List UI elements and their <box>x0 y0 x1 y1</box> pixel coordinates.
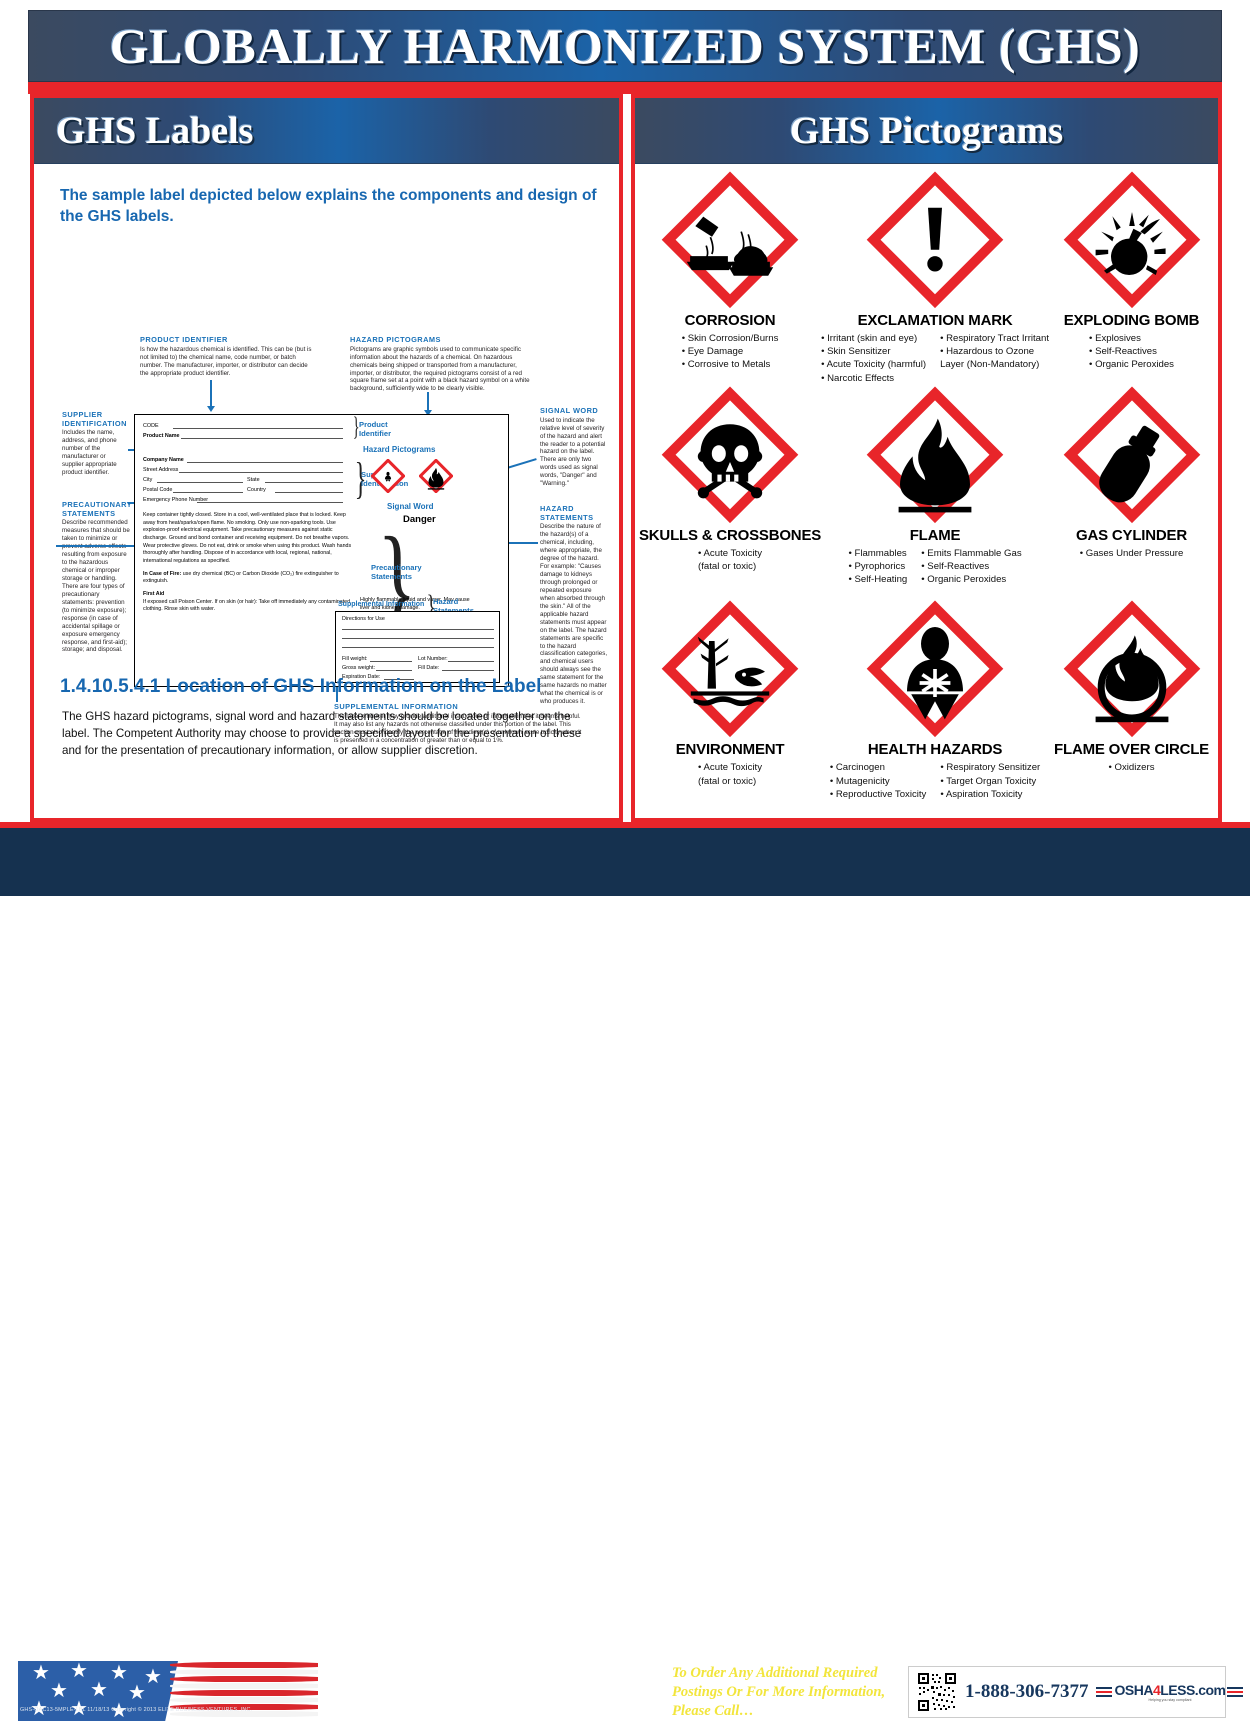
intro-text: The sample label depicted below explains… <box>60 186 600 228</box>
list-item: Oxidizers <box>1109 761 1155 774</box>
phone-number[interactable]: 1-888-306-7377 <box>965 1681 1088 1703</box>
ghs-labels-body: The sample label depicted below explains… <box>34 164 619 818</box>
health-hazard-icon <box>865 599 1005 739</box>
field-rule <box>197 502 343 503</box>
list-item: Corrosive to Metals <box>682 358 779 371</box>
list-item: Layer (Non-Mandatory) <box>940 358 1049 371</box>
annotation-title: HAZARD STATEMENTS <box>540 505 608 522</box>
flag-star: ★ <box>70 1661 88 1681</box>
list-item: Acute Toxicity <box>698 547 762 560</box>
bullet-col-1: Explosives Self-Reactives Organic Peroxi… <box>1089 332 1174 372</box>
pictogram-name: CORROSION <box>685 312 776 329</box>
bullet-col-1: Skin Corrosion/Burns Eye Damage Corrosiv… <box>682 332 779 372</box>
pictogram-name: ENVIRONMENT <box>676 741 785 758</box>
field-rule <box>376 670 412 671</box>
annotation-body: Used to indicate the relative level of s… <box>540 417 608 488</box>
pictogram-cell-exploding-bomb: EXPLODING BOMB Explosives Self-Reactives… <box>1049 170 1214 385</box>
list-item: Self-Reactives <box>921 560 1021 573</box>
supplemental-field-gross-weight: Gross weight: <box>342 665 375 671</box>
pictogram-name: SKULLS & CROSSBONES <box>639 527 821 544</box>
field-rule <box>275 492 343 493</box>
flame-icon <box>865 385 1005 525</box>
annotation-title: PRECAUTIONARY STATEMENTS <box>62 501 132 518</box>
sample-label-box: CODE Product Name } Product Identifier C… <box>134 414 509 687</box>
field-rule <box>187 462 343 463</box>
flag-star: ★ <box>32 1663 50 1683</box>
label-field-postal-code: Postal Code <box>143 487 172 493</box>
in-case-of-fire-label: In Case of Fire: <box>143 571 181 577</box>
list-item: Aspiration Toxicity <box>940 788 1040 801</box>
label-field-code: CODE <box>143 423 159 429</box>
list-item: Irritant (skin and eye) <box>821 332 926 345</box>
label-signal-word-value: Danger <box>403 514 436 525</box>
ghs-pictograms-header: GHS Pictograms <box>635 98 1218 164</box>
label-field-company-name: Company Name <box>143 457 184 463</box>
bullet-col-1: Acute Toxicity (fatal or toxic) <box>698 761 762 787</box>
environment-icon <box>660 599 800 739</box>
pictogram-name: FLAME <box>910 527 961 544</box>
osha4less-logo[interactable]: OSHA4LESS.com Helping you stay compliant <box>1096 1682 1243 1702</box>
poster-title-banner: GLOBALLY HARMONIZED SYSTEM (GHS) <box>28 10 1222 82</box>
annotation-title: HAZARD PICTOGRAMS <box>350 336 530 345</box>
exclamation-mark-icon <box>865 170 1005 310</box>
list-item: Mutagenicity <box>830 775 927 788</box>
annotation-title: SUPPLIER IDENTIFICATION <box>62 411 128 428</box>
pictogram-bullets: Skin Corrosion/Burns Eye Damage Corrosiv… <box>682 332 779 372</box>
field-rule <box>342 647 494 648</box>
field-rule <box>173 492 243 493</box>
list-item: Emits Flammable Gas <box>921 547 1021 560</box>
field-rule <box>173 428 343 429</box>
annotation-body: Includes the name, address, and phone nu… <box>62 429 128 477</box>
in-case-of-fire: In Case of Fire: use dry chemical (BC) o… <box>143 571 358 586</box>
list-item: Narcotic Effects <box>821 372 926 385</box>
label-field-product-name: Product Name <box>143 433 180 439</box>
pictogram-bullets: Explosives Self-Reactives Organic Peroxi… <box>1089 332 1174 372</box>
pictogram-bullets: Oxidizers <box>1109 761 1155 774</box>
connector-line <box>427 392 429 410</box>
ghs-labels-heading: GHS Labels <box>34 109 253 153</box>
qr-code-icon[interactable] <box>917 1672 957 1712</box>
pictogram-name: FLAME OVER CIRCLE <box>1054 741 1209 758</box>
skull-and-crossbones-icon <box>660 385 800 525</box>
field-rule <box>442 670 494 671</box>
flag-stripe <box>170 1662 318 1668</box>
pictogram-bullets: Acute Toxicity (fatal or toxic) <box>698 761 762 787</box>
page-title: GLOBALLY HARMONIZED SYSTEM (GHS) <box>110 17 1141 75</box>
list-item: Self-Heating <box>848 573 907 586</box>
pictogram-cell-gas-cylinder: GAS CYLINDER Gases Under Pressure <box>1049 385 1214 600</box>
connector-arrowhead <box>207 406 215 412</box>
list-item: Acute Toxicity <box>698 761 762 774</box>
annotation-title: SIGNAL WORD <box>540 407 608 416</box>
ghs-pictograms-heading: GHS Pictograms <box>790 109 1063 153</box>
label-precautionary-text: Keep container tightly closed. Store in … <box>143 512 358 614</box>
copyright-text: GHS-OAC13-5MPLE-LBL 11/18/13 Copyright ©… <box>20 1707 252 1713</box>
list-item: Pyrophorics <box>848 560 907 573</box>
field-rule <box>157 482 243 483</box>
pictogram-cell-flame: FLAME Flammables Pyrophorics Self-Heatin… <box>821 385 1049 600</box>
bullet-col-1: Gases Under Pressure <box>1080 547 1184 560</box>
label-tag-signal-word: Signal Word <box>387 502 434 511</box>
annotation-hazard-pictograms: HAZARD PICTOGRAMS Pictograms are graphic… <box>350 336 530 393</box>
bullet-col-2: Emits Flammable Gas Self-Reactives Organ… <box>921 547 1021 587</box>
list-item: Skin Sensitizer <box>821 345 926 358</box>
flag-stripe <box>170 1697 318 1703</box>
pictogram-cell-skull-and-crossbones: SKULLS & CROSSBONES Acute Toxicity (fata… <box>639 385 821 600</box>
flag-stripe <box>170 1676 318 1682</box>
flame-mini-pictogram <box>419 459 453 493</box>
pictogram-cell-corrosion: CORROSION Skin Corrosion/Burns Eye Damag… <box>639 170 821 385</box>
list-item: (fatal or toxic) <box>698 560 762 573</box>
field-rule <box>181 438 343 439</box>
brand-name: OSHA4LESS.com <box>1114 1682 1225 1698</box>
flag-star: ★ <box>144 1667 162 1687</box>
flag-stripe <box>170 1690 318 1696</box>
pictogram-name: GAS CYLINDER <box>1076 527 1187 544</box>
annotation-body: Pictograms are graphic symbols used to c… <box>350 346 530 394</box>
pictogram-bullets: Gases Under Pressure <box>1080 547 1184 560</box>
list-item: Reproductive Toxicity <box>830 788 927 801</box>
field-rule <box>370 661 412 662</box>
ghs-labels-panel: GHS Labels The sample label depicted bel… <box>30 94 623 822</box>
annotation-body: Describe recommended measures that shoul… <box>62 519 132 654</box>
annotation-precautionary-statements: PRECAUTIONARY STATEMENTS Describe recomm… <box>62 501 132 654</box>
list-item: Target Organ Toxicity <box>940 775 1040 788</box>
precautionary-body: Keep container tightly closed. Store in … <box>143 512 358 566</box>
brand-tagline: Helping you stay compliant <box>1149 1698 1192 1702</box>
first-aid-label: First Aid <box>143 591 358 599</box>
label-tag-precautionary-statements: Precautionary Statements <box>371 563 422 582</box>
bullet-col-2: Respiratory Tract Irritant Hazardous to … <box>940 332 1049 385</box>
first-aid-text: If exposed call Poison Center. If on ski… <box>143 599 358 614</box>
list-item: Carcinogen <box>830 761 927 774</box>
pictogram-bullets: Irritant (skin and eye) Skin Sensitizer … <box>821 332 1049 385</box>
list-item: Acute Toxicity (harmful) <box>821 358 926 371</box>
supplemental-field-fill-date: Fill Date: <box>418 665 439 671</box>
supplemental-field-fill-weight: Fill weight: <box>342 656 367 662</box>
pictogram-bullets: Acute Toxicity (fatal or toxic) <box>698 547 762 573</box>
list-item: (fatal or toxic) <box>698 775 762 788</box>
field-rule <box>342 638 494 639</box>
pictogram-cell-exclamation-mark: EXCLAMATION MARK Irritant (skin and eye)… <box>821 170 1049 385</box>
label-field-street-address: Street Address <box>143 467 178 473</box>
flame-over-circle-icon <box>1062 599 1202 739</box>
list-item: Eye Damage <box>682 345 779 358</box>
flag-star: ★ <box>128 1683 146 1703</box>
list-item: Respiratory Sensitizer <box>940 761 1040 774</box>
section-body: The GHS hazard pictograms, signal word a… <box>62 709 597 759</box>
list-item: Hazardous to Ozone <box>940 345 1049 358</box>
flag-star: ★ <box>110 1663 128 1683</box>
corrosion-icon <box>660 170 800 310</box>
section-heading: 1.4.10.5.4.1 Location of GHS Information… <box>60 676 605 698</box>
pictogram-cell-environment: ENVIRONMENT Acute Toxicity (fatal or tox… <box>639 599 821 814</box>
label-field-city: City <box>143 477 152 483</box>
bullet-col-1: Carcinogen Mutagenicity Reproductive Tox… <box>830 761 927 801</box>
list-item: Flammables <box>848 547 907 560</box>
ghs-pictograms-body: CORROSION Skin Corrosion/Burns Eye Damag… <box>635 164 1218 818</box>
pictogram-name: HEALTH HAZARDS <box>868 741 1002 758</box>
supplemental-field-lot-number: Lot Number: <box>418 656 448 662</box>
list-item: Skin Corrosion/Burns <box>682 332 779 345</box>
annotation-title: PRODUCT IDENTIFIER <box>140 336 312 345</box>
list-item: Gases Under Pressure <box>1080 547 1184 560</box>
ghs-poster: GLOBALLY HARMONIZED SYSTEM (GHS) GHS Lab… <box>0 0 1250 896</box>
field-rule <box>265 482 343 483</box>
title-red-strip <box>28 82 1222 94</box>
bullet-col-2: Respiratory Sensitizer Target Organ Toxi… <box>940 761 1040 801</box>
flag-stripe <box>170 1683 318 1689</box>
contact-box: 1-888-306-7377 OSHA4LESS.com Helping you… <box>908 1666 1226 1718</box>
pictogram-cell-health-hazard: HEALTH HAZARDS Carcinogen Mutagenicity R… <box>821 599 1049 814</box>
bullet-col-1: Flammables Pyrophorics Self-Heating <box>848 547 907 587</box>
label-tag-product-identifier: Product Identifier <box>359 420 391 439</box>
flag-stripe <box>170 1669 318 1675</box>
list-item: Organic Peroxides <box>1089 358 1174 371</box>
annotation-body: Is how the hazardous chemical is identif… <box>140 346 312 378</box>
annotation-signal-word: SIGNAL WORD Used to indicate the relativ… <box>540 407 608 488</box>
bullet-col-1: Irritant (skin and eye) Skin Sensitizer … <box>821 332 926 385</box>
list-item: Organic Peroxides <box>921 573 1021 586</box>
supplemental-field-directions: Directions for Use <box>342 616 385 622</box>
label-supplemental-box: Directions for Use Fill weight: Lot Numb… <box>335 611 500 683</box>
bullet-col-1: Acute Toxicity (fatal or toxic) <box>698 547 762 573</box>
flag-star: ★ <box>90 1680 108 1700</box>
bullet-col-1: Oxidizers <box>1109 761 1155 774</box>
annotation-product-identifier: PRODUCT IDENTIFIER Is how the hazardous … <box>140 336 312 377</box>
list-item: Respiratory Tract Irritant <box>940 332 1049 345</box>
pictogram-name: EXPLODING BOMB <box>1064 312 1200 329</box>
label-supplemental-title: Supplemental Information <box>338 601 424 608</box>
connector-line <box>56 545 140 547</box>
pictogram-bullets: Carcinogen Mutagenicity Reproductive Tox… <box>830 761 1040 801</box>
gas-cylinder-icon <box>1062 385 1202 525</box>
label-field-country: Country <box>247 487 266 493</box>
pictogram-bullets: Flammables Pyrophorics Self-Heating Emit… <box>848 547 1021 587</box>
exploding-bomb-icon <box>1062 170 1202 310</box>
logo-bars-left <box>1096 1687 1112 1698</box>
pictogram-name: EXCLAMATION MARK <box>858 312 1013 329</box>
pictogram-cell-flame-over-circle: FLAME OVER CIRCLE Oxidizers <box>1049 599 1214 814</box>
health-hazard-mini-pictogram <box>371 459 405 493</box>
flag-star: ★ <box>50 1681 68 1701</box>
field-rule <box>179 472 343 473</box>
ghs-pictograms-panel: GHS Pictograms <box>631 94 1222 822</box>
footer: ★ ★ ★ ★ ★ ★ ★ ★ ★ ★ GHS-OAC13-5MPLE-LBL … <box>0 828 1250 896</box>
field-rule <box>342 629 494 630</box>
label-field-state: State <box>247 477 260 483</box>
connector-line <box>210 380 212 406</box>
field-rule <box>448 661 494 662</box>
annotation-supplier-identification: SUPPLIER IDENTIFICATION Includes the nam… <box>62 411 128 477</box>
pictogram-grid: CORROSION Skin Corrosion/Burns Eye Damag… <box>635 164 1218 818</box>
order-call-to-action: To Order Any Additional Required Posting… <box>672 1664 902 1721</box>
list-item: Self-Reactives <box>1089 345 1174 358</box>
list-item: Explosives <box>1089 332 1174 345</box>
logo-bars-right <box>1227 1687 1243 1698</box>
label-tag-hazard-pictograms: Hazard Pictograms <box>363 445 435 454</box>
ghs-labels-header: GHS Labels <box>34 98 619 164</box>
